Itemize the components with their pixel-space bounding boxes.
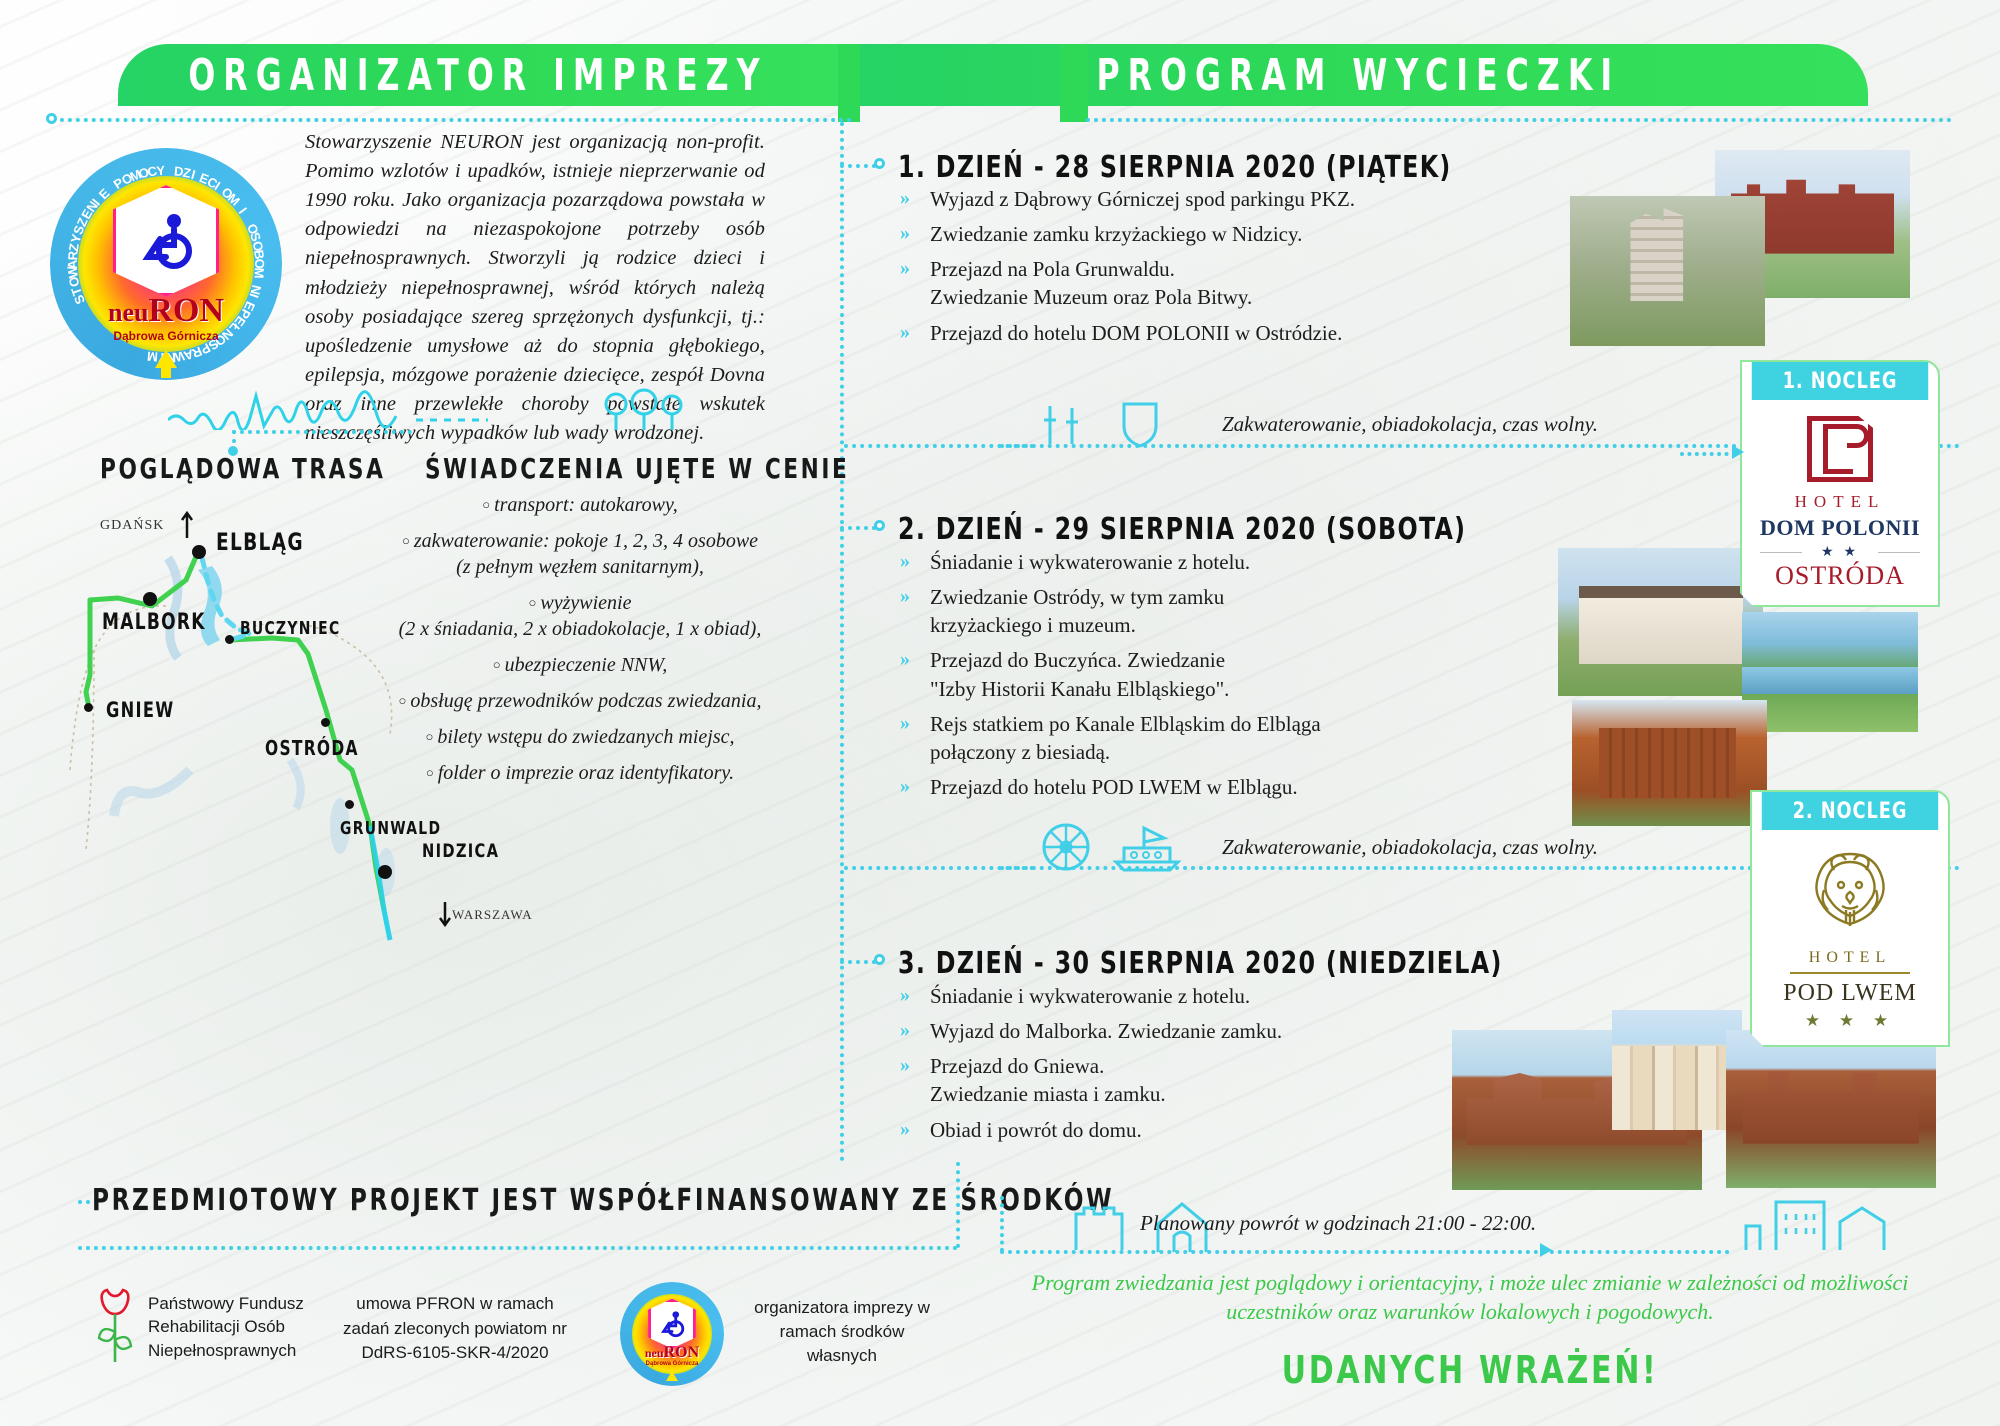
program-item: »Obiad i powrót do domu. xyxy=(900,1116,1460,1144)
header-program-title: PROGRAM WYCIECZKI xyxy=(1096,50,1620,101)
day1-note: Zakwaterowanie, obiadokolacja, czas woln… xyxy=(1222,412,1598,437)
chevron-double-icon: » xyxy=(900,548,918,576)
hotel-1-badge: 1. NOCLEG xyxy=(1752,362,1928,400)
service-item-label: bilety wstępu do zwiedzanych miejsc, xyxy=(437,726,734,748)
program-item-label: Przejazd do Gniewa. Zwiedzanie miasta i … xyxy=(930,1052,1166,1108)
day2-list: »Śniadanie i wykwaterowanie z hotelu.»Zw… xyxy=(900,548,1460,808)
map-arrow-north-icon xyxy=(180,510,194,540)
day1-icon-shield xyxy=(1118,398,1162,448)
day2-divider-left xyxy=(844,866,1034,870)
pfron-contract-number: umowa PFRON w ramach zadań zleconych pow… xyxy=(340,1292,570,1366)
flyer-page: ORGANIZATOR IMPREZY PROGRAM WYCIECZKI ST… xyxy=(0,0,2000,1426)
header-organizer-title: ORGANIZATOR IMPREZY xyxy=(188,50,767,101)
map-dot-malbork xyxy=(143,592,157,606)
chevron-double-icon: » xyxy=(900,255,918,311)
services-dot-marker xyxy=(228,446,238,456)
chevron-double-icon: » xyxy=(900,646,918,702)
chevron-double-icon: » xyxy=(900,982,918,1010)
day1-divider-left xyxy=(844,444,1034,448)
program-item: »Przejazd do Gniewa. Zwiedzanie miasta i… xyxy=(900,1052,1460,1108)
map-label-malbork: MALBORK xyxy=(102,610,206,635)
map-dot-elblag xyxy=(192,545,206,559)
route-section-title: POGLĄDOWA TRASA xyxy=(100,452,385,485)
map-dot-ostroda xyxy=(321,718,330,727)
photo-gniew-castle xyxy=(1726,1030,1936,1188)
map-ref-warszawa: WARSZAWA xyxy=(452,907,533,923)
service-bullet-icon: ○ xyxy=(425,729,433,744)
service-item: ○ubezpieczenie NNW, xyxy=(370,652,790,678)
map-label-nidzica: NIDZICA xyxy=(422,840,499,862)
service-item-sublabel: (z pełnym węzłem sanitarnym), xyxy=(370,554,790,580)
hotel-2-rule xyxy=(1790,972,1910,974)
program-item: »Śniadanie i wykwaterowanie z hotelu. xyxy=(900,982,1460,1010)
day3-lead-dots xyxy=(840,960,876,964)
day1-list: »Wyjazd z Dąbrowy Górniczej spod parking… xyxy=(900,185,1460,354)
service-item: ○obsługę przewodników podczas zwiedzania… xyxy=(370,688,790,714)
service-item-label: wyżywienie xyxy=(540,592,631,614)
divider-top-left xyxy=(52,118,852,122)
day2-lead-dots xyxy=(840,526,876,530)
wheelchair-glyph xyxy=(134,209,198,273)
hotel-2-line2: POD LWEM xyxy=(1760,980,1940,1007)
service-item: ○zakwaterowanie: pokoje 1, 2, 3, 4 osobo… xyxy=(370,528,790,580)
hotel1-arrow-icon xyxy=(1732,445,1744,459)
logo-word-neu: neu xyxy=(108,298,148,327)
program-item: »Wyjazd do Malborka. Zwiedzanie zamku. xyxy=(900,1017,1460,1045)
program-item: »Śniadanie i wykwaterowanie z hotelu. xyxy=(900,548,1460,576)
program-item-label: Śniadanie i wykwaterowanie z hotelu. xyxy=(930,548,1250,576)
hotel-2-badge: 2. NOCLEG xyxy=(1762,792,1938,830)
chevron-double-icon: » xyxy=(900,185,918,213)
services-dotted-lead xyxy=(232,430,412,434)
map-dot-gniew xyxy=(84,703,93,712)
hotel-1-stars: ★ ★ xyxy=(1750,543,1930,560)
day2-lead-dot xyxy=(874,520,885,531)
chevron-double-icon: » xyxy=(900,583,918,639)
service-item: ○folder o imprezie oraz identyfikatory. xyxy=(370,760,790,786)
chevron-double-icon: » xyxy=(900,773,918,801)
own-funds-note: organizatora imprezy w ramach środków wł… xyxy=(752,1296,932,1368)
logo-arrow-stem xyxy=(161,367,171,378)
project-line-rule xyxy=(78,1200,90,1204)
header-program-ribbon: PROGRAM WYCIECZKI xyxy=(848,44,1868,106)
program-item-label: Śniadanie i wykwaterowanie z hotelu. xyxy=(930,982,1250,1010)
neuron-logo-footer: neuRON Dąbrowa Górnicza xyxy=(620,1282,724,1386)
map-dot-buczyniec xyxy=(225,635,234,644)
program-item: »Przejazd do Buczyńca. Zwiedzanie "Izby … xyxy=(900,646,1460,702)
map-dot-grunwald xyxy=(345,800,354,809)
divider-dot-left xyxy=(46,113,57,124)
service-item-sublabel: (2 x śniadania, 2 x obiadokolacje, 1 x o… xyxy=(370,616,790,642)
hotel-card-2: 2. NOCLEG HOTEL POD LWEM ★ ★ xyxy=(1750,790,1950,1047)
program-item: »Zwiedzanie Ostródy, w tym zamku krzyżac… xyxy=(900,583,1460,639)
photo-ostroda-museum xyxy=(1558,548,1763,696)
column-divider xyxy=(840,122,844,1162)
program-item: »Przejazd do hotelu POD LWEM w Elblągu. xyxy=(900,773,1460,801)
pfron-tulip-icon xyxy=(95,1288,135,1366)
day1-lead-dots xyxy=(840,164,876,168)
footer-divider-right xyxy=(1000,1250,1730,1254)
closing-message: UDANYCH WRAŻEŃ! xyxy=(1020,1348,1920,1392)
ribbon-notch-left xyxy=(838,44,860,122)
hotel-1-body: HOTEL DOM POLONII ★ ★ OSTRÓDA xyxy=(1742,400,1938,605)
logo-arrow-icon-footer xyxy=(666,1371,678,1381)
map-label-ostroda: OSTRÓDA xyxy=(265,736,359,760)
service-item-label: ubezpieczenie NNW, xyxy=(505,654,668,676)
neuron-logo: STOWARZYSZENIE POMOCY DZIECIOM I OSOBOM … xyxy=(50,148,282,380)
day1-lead-dot xyxy=(874,158,885,169)
chevron-double-icon: » xyxy=(900,319,918,347)
photo-gniew-town xyxy=(1612,1010,1742,1130)
program-item-label: Przejazd do hotelu DOM POLONII w Ostródz… xyxy=(930,319,1342,347)
hotel-card-1: 1. NOCLEG HOTEL DOM POLONII ★ ★ OSTRÓDA xyxy=(1740,360,1940,607)
divider-top-right xyxy=(1086,118,1952,122)
footer-divider-vert xyxy=(1000,1196,1004,1252)
program-item-label: Obiad i powrót do domu. xyxy=(930,1116,1142,1144)
ribbon-notch-right xyxy=(1060,44,1088,122)
photo-grunwald-memorial xyxy=(1570,196,1765,346)
chevron-double-icon: » xyxy=(900,710,918,766)
closing-text: UDANYCH WRAŻEŃ! xyxy=(1282,1348,1659,1392)
service-bullet-icon: ○ xyxy=(482,497,490,512)
dom-polonii-logo-icon xyxy=(1807,416,1873,482)
service-item-label: zakwaterowanie: pokoje 1, 2, 3, 4 osobow… xyxy=(414,530,758,552)
program-item-label: Przejazd do hotelu POD LWEM w Elblągu. xyxy=(930,773,1298,801)
pfron-name: Państwowy Fundusz Rehabilitacji Osób Nie… xyxy=(148,1292,304,1362)
day3-lead-dot xyxy=(874,954,885,965)
map-ref-gdansk: GDAŃSK xyxy=(100,518,164,534)
program-item-label: Wyjazd z Dąbrowy Górniczej spod parkingu… xyxy=(930,185,1355,213)
footer-arrow-icon xyxy=(1540,1243,1552,1257)
hotel-1-line2: DOM POLONII xyxy=(1750,515,1930,541)
day2-note: Zakwaterowanie, obiadokolacja, czas woln… xyxy=(1222,835,1598,860)
map-label-grunwald: GRUNWALD xyxy=(340,818,441,839)
program-disclaimer: Program zwiedzania jest poglądowy i orie… xyxy=(1020,1268,1920,1326)
hotel-1-line1: HOTEL xyxy=(1750,492,1930,512)
day3-list: »Śniadanie i wykwaterowanie z hotelu.»Wy… xyxy=(900,982,1460,1151)
project-financing-line: PRZEDMIOTOWY PROJEKT JEST WSPÓŁFINANSOWA… xyxy=(92,1183,1114,1218)
wheelchair-glyph-footer xyxy=(657,1309,687,1339)
project-underline xyxy=(78,1246,958,1250)
decor-trees-icon xyxy=(600,388,690,434)
footer-icon-castle xyxy=(1070,1200,1140,1252)
day1-title: 1. DZIEŃ - 28 SIERPNIA 2020 (PIĄTEK) xyxy=(898,150,1452,185)
footer-icon-city xyxy=(1740,1196,1940,1252)
logo-wordmark-footer: neuRON xyxy=(620,1344,724,1362)
hotel-1-line3: OSTRÓDA xyxy=(1750,561,1930,591)
lion-head-icon xyxy=(1804,848,1896,936)
program-item: »Przejazd do hotelu DOM POLONII w Ostród… xyxy=(900,319,1460,347)
hotel-2-stars: ★ ★ ★ xyxy=(1760,1011,1940,1031)
map-label-elblag: ELBLĄG xyxy=(216,528,304,556)
service-item-label: obsługę przewodników podczas zwiedzania, xyxy=(410,690,761,712)
map-dot-nidzica xyxy=(378,865,392,879)
logo-word-ron-footer: RON xyxy=(664,1344,700,1361)
logo-wordmark: neuRON xyxy=(50,292,282,330)
map-label-buczyniec: BUCZYNIEC xyxy=(240,618,340,639)
photo-elblag-canal xyxy=(1742,612,1918,732)
day1-icon-church xyxy=(1040,398,1100,446)
map-label-gniew: GNIEW xyxy=(106,698,174,722)
project-connector xyxy=(956,1162,960,1248)
day3-title: 3. DZIEŃ - 30 SIERPNIA 2020 (NIEDZIELA) xyxy=(898,946,1503,981)
program-item-label: Wyjazd do Malborka. Zwiedzanie zamku. xyxy=(930,1017,1282,1045)
logo-city-footer: Dąbrowa Górnicza xyxy=(620,1361,724,1367)
service-bullet-icon: ○ xyxy=(493,657,501,672)
logo-city: Dąbrowa Górnicza xyxy=(50,329,282,343)
program-item: »Zwiedzanie zamku krzyżackiego w Nidzicy… xyxy=(900,220,1460,248)
hotel1-connector xyxy=(1680,452,1736,456)
hotel-2-line1: HOTEL xyxy=(1760,949,1940,967)
logo-word-ron: RON xyxy=(148,292,224,329)
chevron-double-icon: » xyxy=(900,1052,918,1108)
service-bullet-icon: ○ xyxy=(402,533,410,548)
map-arrow-south-icon xyxy=(438,900,452,928)
hotel-2-body: HOTEL POD LWEM ★ ★ ★ xyxy=(1752,830,1948,1045)
program-item-label: Przejazd do Buczyńca. Zwiedzanie "Izby H… xyxy=(930,646,1229,702)
program-item-label: Zwiedzanie zamku krzyżackiego w Nidzicy. xyxy=(930,220,1302,248)
services-section-title: ŚWIADCZENIA UJĘTE W CENIE xyxy=(425,452,849,485)
day2-title: 2. DZIEŃ - 29 SIERPNIA 2020 (SOBOTA) xyxy=(898,512,1466,547)
program-item-label: Przejazd na Pola Grunwaldu. Zwiedzanie M… xyxy=(930,255,1252,311)
service-item: ○bilety wstępu do zwiedzanych miejsc, xyxy=(370,724,790,750)
service-item-label: folder o imprezie oraz identyfikatory. xyxy=(438,762,734,784)
photo-buczyniec-building xyxy=(1572,700,1767,826)
header-organizer-ribbon: ORGANIZATOR IMPREZY xyxy=(118,44,838,106)
chevron-double-icon: » xyxy=(900,220,918,248)
program-item-label: Zwiedzanie Ostródy, w tym zamku krzyżack… xyxy=(930,583,1224,639)
program-item: »Rejs statkiem po Kanale Elbląskim do El… xyxy=(900,710,1460,766)
return-time-note: Planowany powrót w godzinach 21:00 - 22:… xyxy=(1140,1211,1536,1236)
service-bullet-icon: ○ xyxy=(399,693,407,708)
services-list: ○transport: autokarowy,○zakwaterowanie: … xyxy=(370,492,790,796)
logo-word-neu-footer: neu xyxy=(645,1346,664,1360)
program-item: »Przejazd na Pola Grunwaldu. Zwiedzanie … xyxy=(900,255,1460,311)
program-item-label: Rejs statkiem po Kanale Elbląskim do Elb… xyxy=(930,710,1321,766)
chevron-double-icon: » xyxy=(900,1116,918,1144)
chevron-double-icon: » xyxy=(900,1017,918,1045)
service-item-label: transport: autokarowy, xyxy=(494,494,678,516)
program-item: »Wyjazd z Dąbrowy Górniczej spod parking… xyxy=(900,185,1460,213)
service-bullet-icon: ○ xyxy=(529,595,537,610)
service-item: ○transport: autokarowy, xyxy=(370,492,790,518)
service-item: ○wyżywienie(2 x śniadania, 2 x obiadokol… xyxy=(370,590,790,642)
service-bullet-icon: ○ xyxy=(426,765,434,780)
